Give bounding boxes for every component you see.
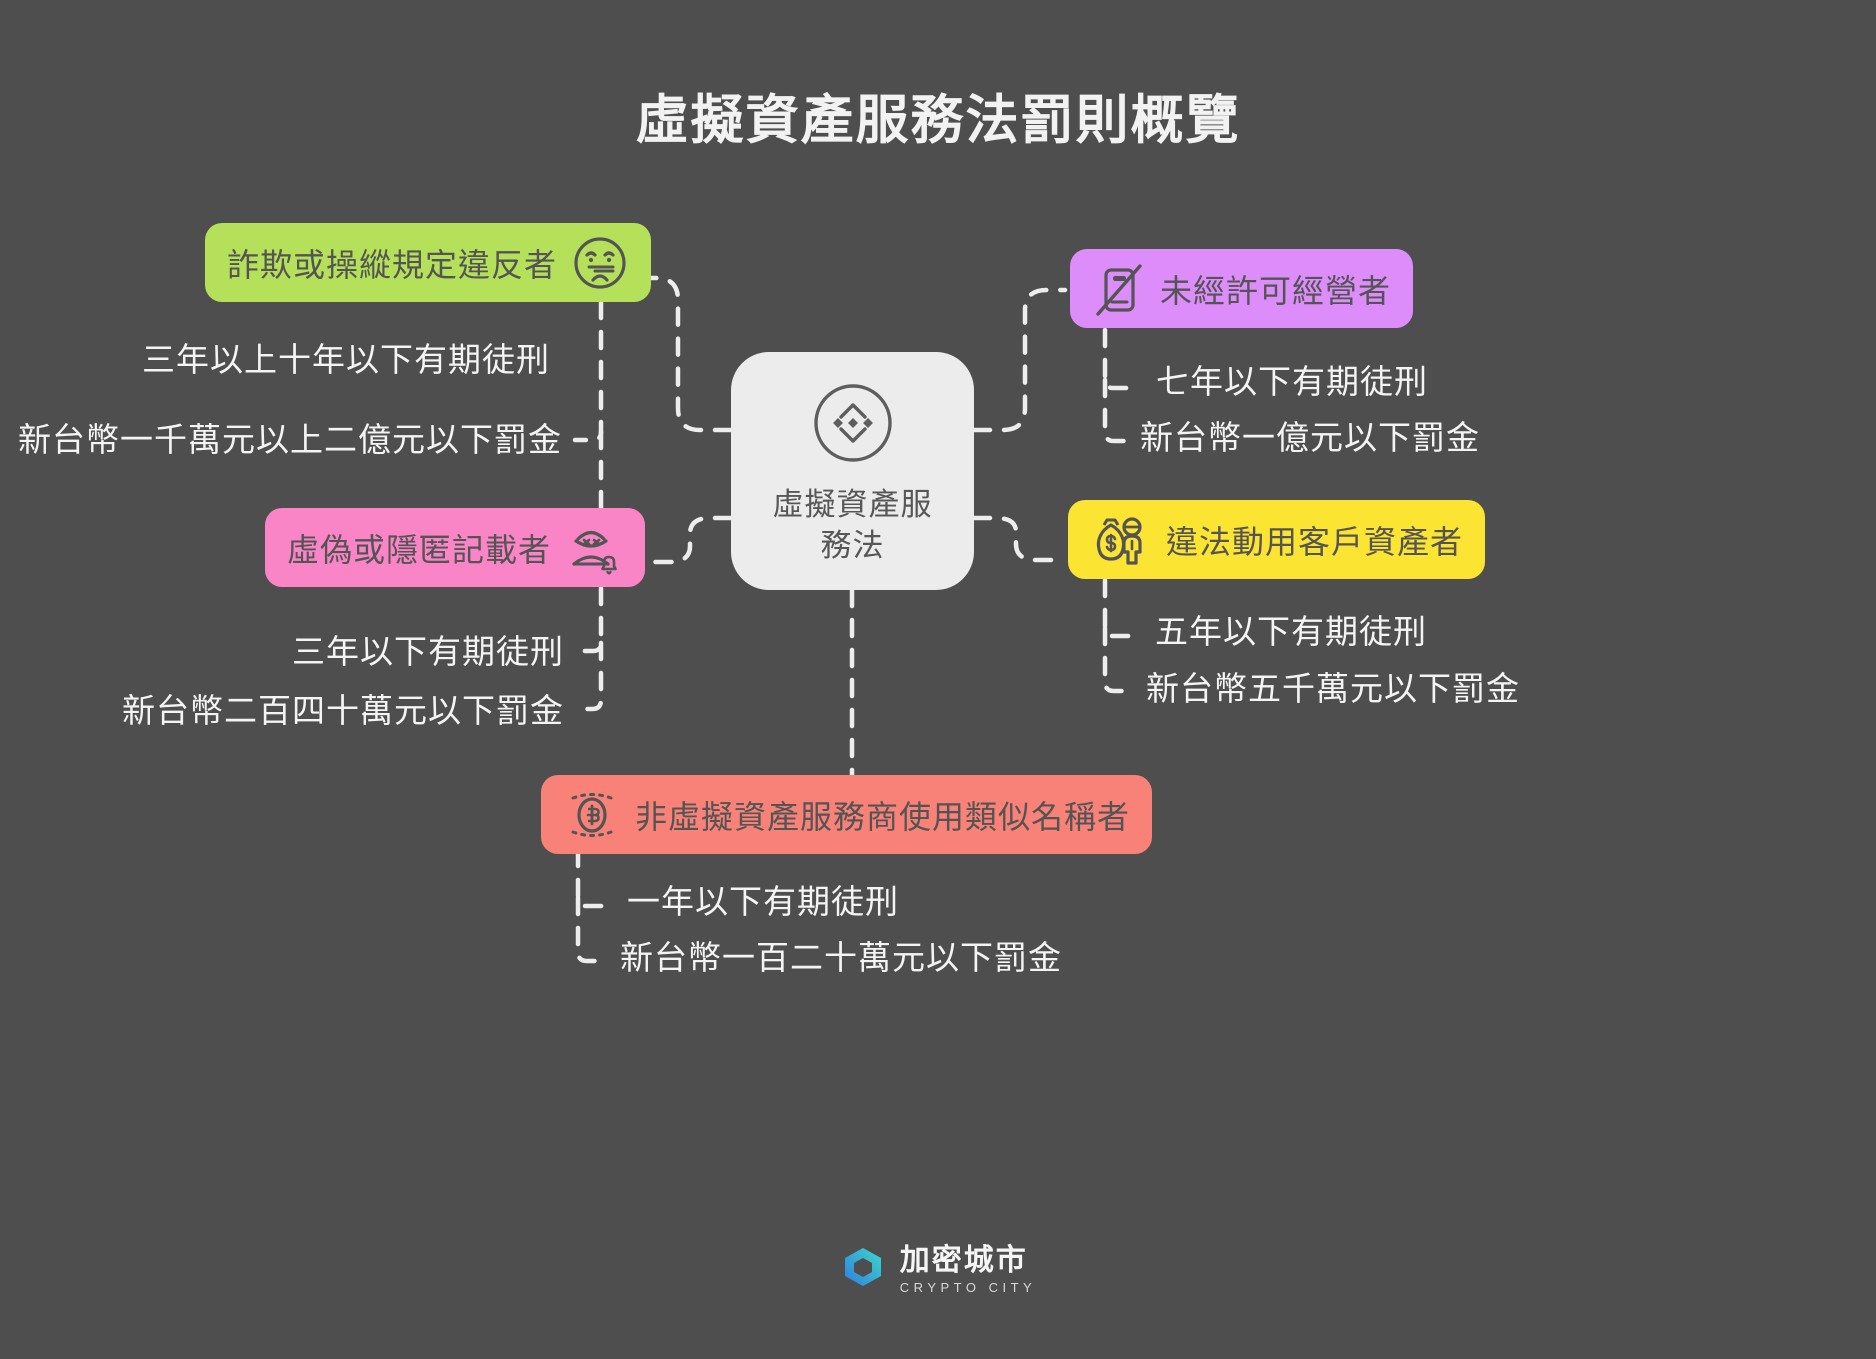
branch-pill-false-record[interactable]: 虛偽或隱匿記載者 (265, 508, 645, 587)
branch-detail-client-assets-1: 五年以下有期徒刑 (1155, 605, 1427, 653)
branch-pill-similar-name-misuse[interactable]: 非虛擬資產服務商使用類似名稱者 (541, 775, 1152, 854)
confounded-face-icon (571, 234, 629, 292)
connector-pink-detail2 (578, 643, 601, 709)
connector-yellow-detail2 (1105, 628, 1133, 691)
branch-detail-similar-name-1: 一年以下有期徒刑 (627, 875, 899, 923)
branch-pill-fraud-manipulation[interactable]: 詐欺或操縱規定違反者 (205, 223, 651, 302)
center-node[interactable]: 虛擬資產服 務法 (731, 352, 974, 590)
branch-label-unlicensed-operator: 未經許可經營者 (1160, 266, 1391, 312)
connector-center-to-pink (645, 518, 731, 562)
branch-detail-unlicensed-1: 七年以下有期徒刑 (1156, 355, 1428, 403)
branch-label-fraud-manipulation: 詐欺或操縱規定違反者 (227, 240, 557, 286)
branch-detail-fraud-1: 三年以上十年以下有期徒刑 (142, 333, 550, 381)
connector-center-to-purple (974, 290, 1065, 430)
branch-detail-fraud-2: 新台幣一千萬元以上二億元以下罰金 (18, 413, 562, 461)
money-bag-person-icon (1090, 511, 1152, 569)
crypto-city-cube-logo (840, 1244, 886, 1295)
connector-red-detail2 (578, 898, 604, 961)
connector-red-details (578, 850, 606, 906)
connector-pink-details (575, 588, 601, 651)
masked-person-alert-icon (565, 519, 623, 577)
brand-name-cn: 加密城市 (900, 1246, 1036, 1276)
connector-purple-detail2 (1105, 380, 1133, 441)
connector-green-detail2 (578, 432, 601, 519)
crypto-diamond-circle-icon (810, 380, 896, 471)
connector-center-to-green (645, 278, 731, 430)
brand-name-en: CRYPTO CITY (900, 1281, 1036, 1294)
connector-green-details (575, 302, 601, 440)
connector-yellow-details (1105, 580, 1135, 636)
coin-token-icon (563, 786, 621, 844)
branch-detail-client-assets-2: 新台幣五千萬元以下罰金 (1146, 662, 1520, 710)
branch-detail-false-record-2: 新台幣二百四十萬元以下罰金 (122, 684, 564, 732)
branch-pill-illegal-client-assets[interactable]: 違法動用客戶資產者 (1068, 500, 1485, 579)
branch-label-false-record: 虛偽或隱匿記載者 (287, 525, 551, 571)
branch-detail-similar-name-2: 新台幣一百二十萬元以下罰金 (620, 931, 1062, 979)
branch-label-similar-name-misuse: 非虛擬資產服務商使用類似名稱者 (635, 792, 1130, 838)
brand-text: 加密城市 CRYPTO CITY (900, 1246, 1036, 1294)
center-node-label: 虛擬資產服 務法 (773, 485, 933, 567)
connector-lines (0, 0, 1876, 1359)
branch-label-illegal-client-assets: 違法動用客戶資產者 (1166, 517, 1463, 563)
branch-detail-unlicensed-2: 新台幣一億元以下罰金 (1140, 411, 1480, 459)
page-title: 虛擬資產服務法罰則概覽 (0, 78, 1876, 154)
footer-brand: 加密城市 CRYPTO CITY (0, 1244, 1876, 1295)
branch-pill-unlicensed-operator[interactable]: 未經許可經營者 (1070, 249, 1413, 328)
infographic-canvas: 虛擬資產服務法罰則概覽 (0, 0, 1876, 1359)
center-label-line2: 務法 (821, 528, 885, 563)
branch-detail-false-record-1: 三年以下有期徒刑 (292, 625, 564, 673)
connector-center-to-yellow (974, 518, 1063, 560)
center-label-line1: 虛擬資產服 (773, 487, 933, 522)
no-license-device-icon (1092, 260, 1146, 318)
connector-purple-details (1105, 330, 1135, 388)
